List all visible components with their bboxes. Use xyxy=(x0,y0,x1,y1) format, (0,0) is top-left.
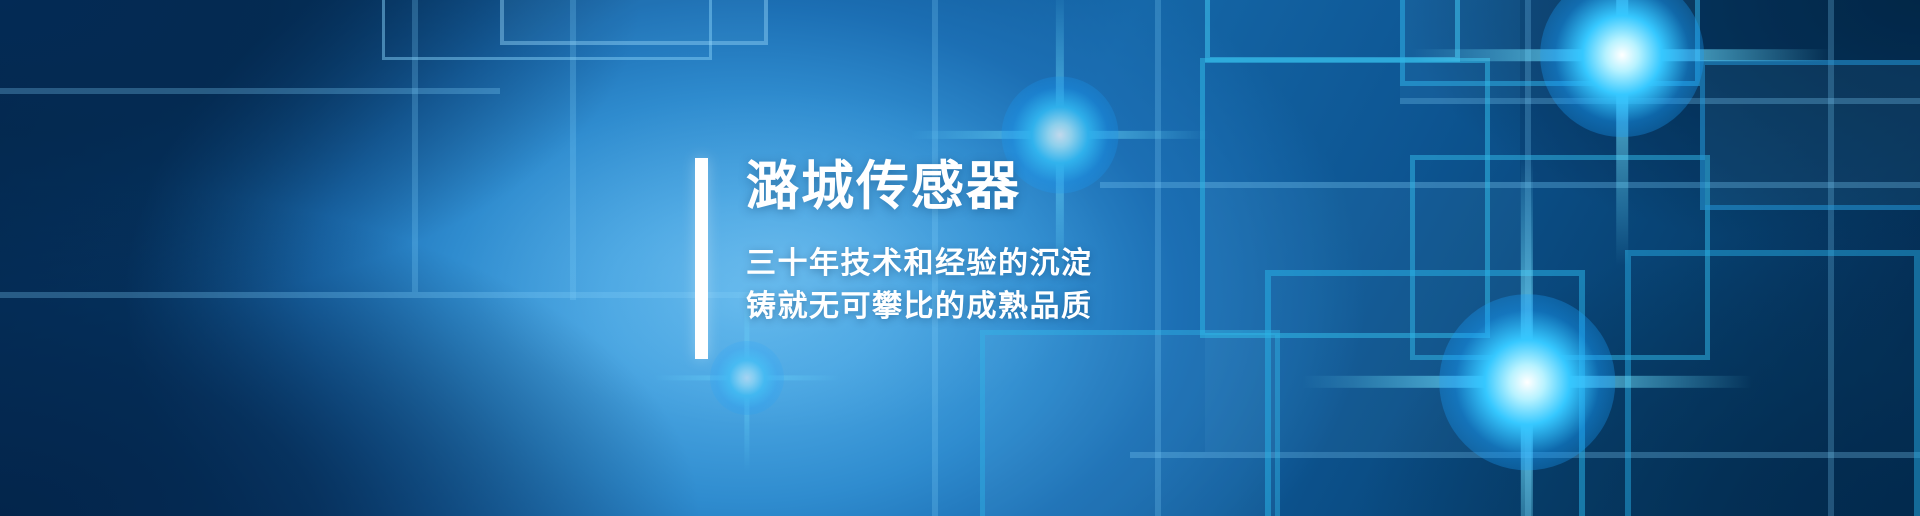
background-shade-bottom-left xyxy=(0,186,760,516)
banner-subtitle: 三十年技术和经验的沉淀 铸就无可攀比的成熟品质 xyxy=(746,243,1093,328)
banner-headline: 潞城传感器 xyxy=(746,158,1093,213)
hline-upper-left xyxy=(0,88,500,94)
banner-text-group: 潞城传感器 三十年技术和经验的沉淀 铸就无可攀比的成熟品质 xyxy=(708,158,1093,359)
white-vertical-accent-bar xyxy=(695,158,708,359)
rect-outline-right-e xyxy=(1265,270,1585,516)
hero-banner: 潞城传感器 三十年技术和经验的沉淀 铸就无可攀比的成熟品质 xyxy=(0,0,1920,516)
banner-copy-block: 潞城传感器 三十年技术和经验的沉淀 铸就无可攀比的成熟品质 xyxy=(695,158,1093,359)
rect-outline-upper-mid xyxy=(500,0,768,45)
hline-mid-left xyxy=(0,292,760,298)
rect-outline-far-right xyxy=(1700,60,1920,210)
rect-outline-right-f xyxy=(1625,250,1920,516)
banner-subtitle-line-2: 铸就无可攀比的成熟品质 xyxy=(746,286,1093,329)
banner-subtitle-line-1: 三十年技术和经验的沉淀 xyxy=(746,243,1093,286)
